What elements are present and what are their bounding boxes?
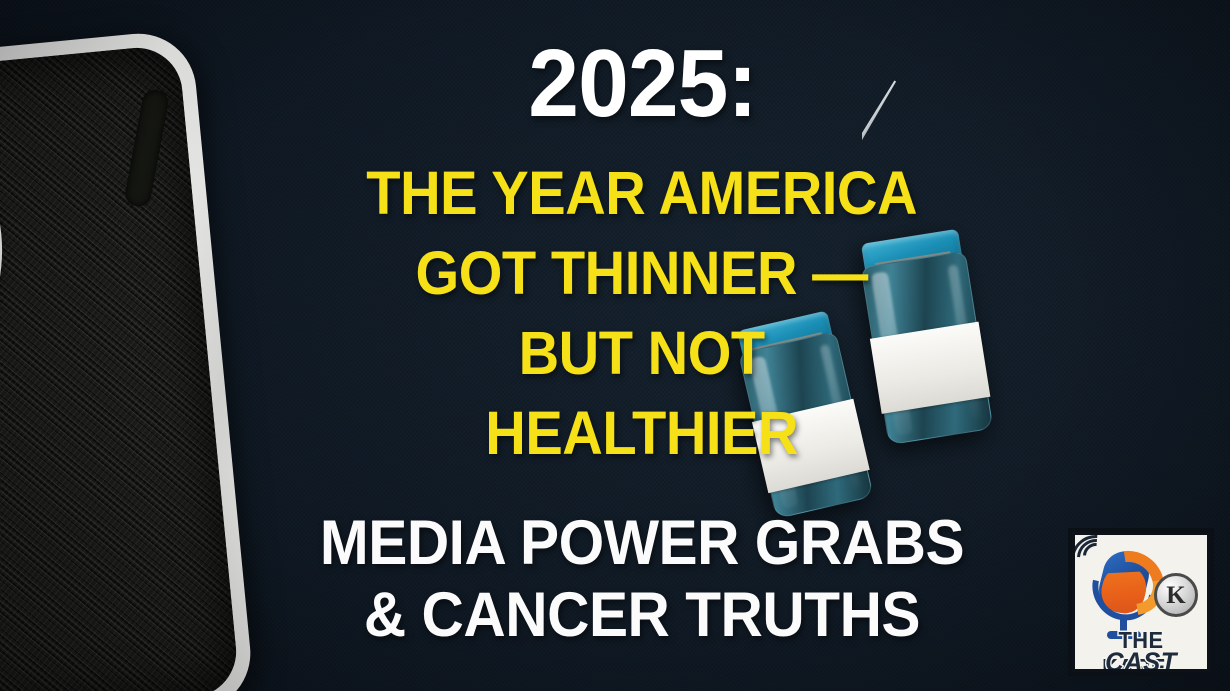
karel-cast-logo[interactable]: K THE KAREL CAST [1072, 532, 1210, 672]
logo-artwork: K THE KAREL CAST [1075, 535, 1207, 669]
subtitle-line-1: MEDIA POWER GRABS [43, 512, 1187, 575]
thumbnail-canvas: 00 120 140 160 180 200 220 [0, 0, 1230, 691]
medallion-letter: K [1166, 583, 1185, 608]
subtitle-line-2: & CANCER TRUTHS [43, 584, 1187, 647]
headline-year: 2025: [31, 36, 1200, 132]
headline-yellow-line-1: THE YEAR AMERICA [49, 163, 1181, 224]
k-medallion-icon: K [1154, 573, 1198, 617]
headline-yellow-line-2: GOT THINNER — [49, 243, 1181, 304]
headline-yellow-line-3: BUT NOT [49, 323, 1181, 384]
headline-yellow-line-4: HEALTHIER [49, 403, 1181, 464]
logo-text-line-2: CAST [1078, 647, 1203, 672]
